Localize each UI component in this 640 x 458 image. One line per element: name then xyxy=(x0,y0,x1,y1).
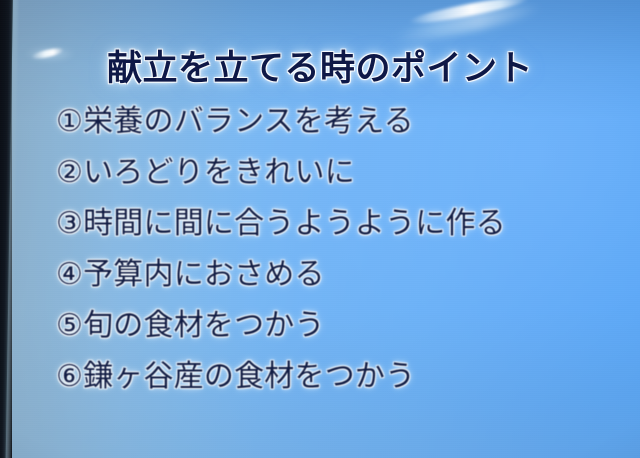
slide-background xyxy=(12,0,640,458)
projected-slide-photo: 献立を立てる時のポイント ①栄養のバランスを考える ②いろどりをきれいに ③時間… xyxy=(0,0,640,458)
